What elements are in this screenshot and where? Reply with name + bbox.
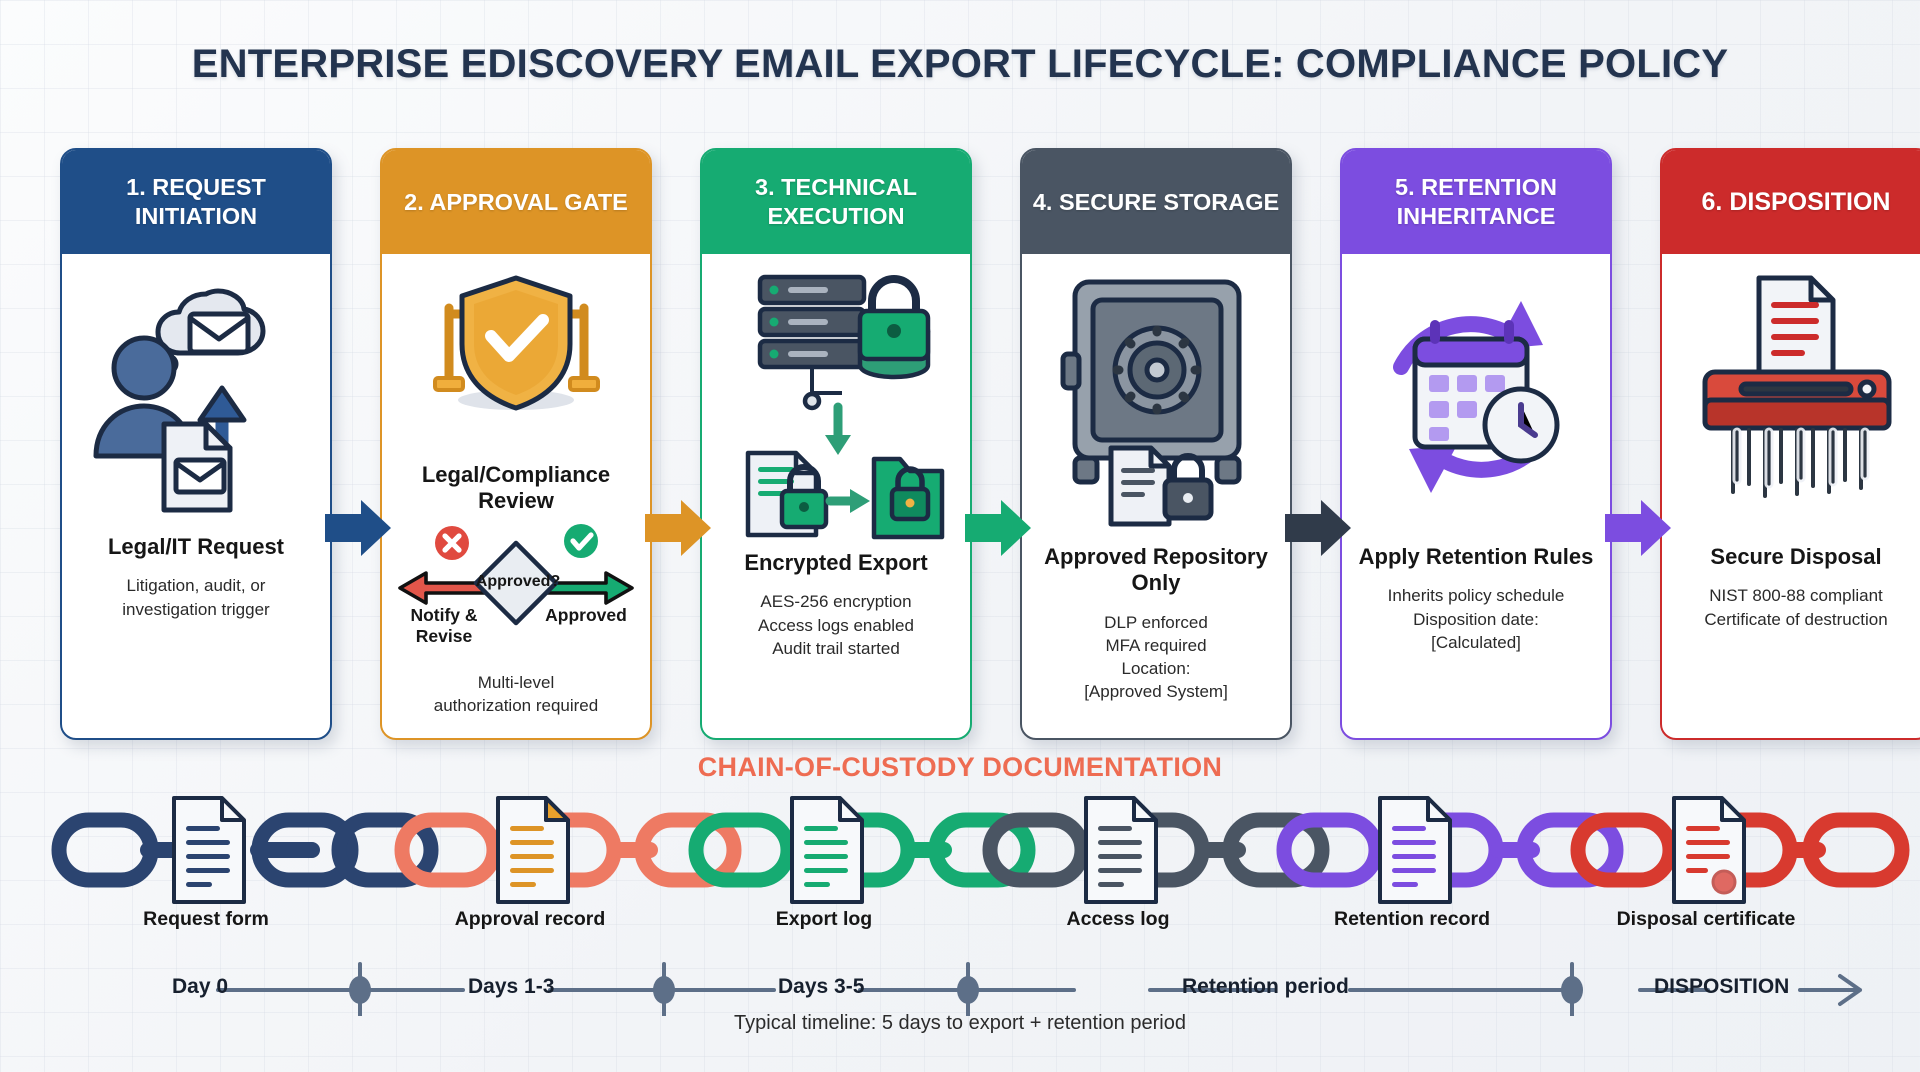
step-headline: Legal/IT Request [108, 534, 284, 560]
arrow-step2-to-step3 [645, 500, 711, 556]
step-headline: Legal/Compliance Review [394, 462, 638, 515]
arrow-step3-to-step4 [965, 500, 1031, 556]
step-detail: Multi-level authorization required [434, 671, 598, 717]
step-card-technical-execution[interactable]: 3. TECHNICAL EXECUTION [700, 148, 972, 740]
shield-check-gate-icon [394, 260, 638, 456]
chain-doc-label: Disposal certificate [1586, 908, 1826, 931]
arrow-step4-to-step5 [1285, 500, 1351, 556]
step-detail: Inherits policy schedule Disposition dat… [1388, 584, 1565, 653]
step-headline: Approved Repository Only [1034, 544, 1278, 597]
safe-vault-lock-icon [1034, 266, 1278, 538]
step-card-request-initiation[interactable]: 1. REQUEST INITIATION [60, 148, 332, 740]
step-card-header: 6. DISPOSITION [1662, 150, 1920, 254]
step-card-header: 2. APPROVAL GATE [382, 150, 650, 254]
step-headline: Apply Retention Rules [1359, 544, 1594, 570]
chain-doc-label: Request form [86, 908, 326, 931]
chain-of-custody-graphic [0, 790, 1920, 910]
timeline-marker: Days 3-5 [778, 975, 864, 999]
timeline-marker: Retention period [1182, 975, 1349, 999]
timeline-marker: Day 0 [172, 975, 228, 999]
reject-branch-label: Notify & Revise [386, 605, 502, 647]
step-headline: Encrypted Export [744, 550, 927, 576]
step-card-approval-gate[interactable]: 2. APPROVAL GATE Legal/Compliance Review [380, 148, 652, 740]
step-card-header: 3. TECHNICAL EXECUTION [702, 150, 970, 254]
arrow-right-icon [1800, 976, 1860, 1004]
timeline-marker: DISPOSITION [1654, 975, 1789, 999]
step-detail: NIST 800-88 compliant Certificate of des… [1704, 584, 1887, 630]
step-detail: DLP enforced MFA required Location: [App… [1084, 611, 1228, 703]
page-title: ENTERPRISE EDISCOVERY EMAIL EXPORT LIFEC… [0, 42, 1920, 87]
chain-doc-label: Retention record [1292, 908, 1532, 931]
server-lock-encrypted-folder-icon [714, 266, 958, 544]
step-detail: Litigation, audit, or investigation trig… [122, 574, 269, 620]
timeline-axis [0, 960, 1920, 1016]
chain-doc-label: Access log [998, 908, 1238, 931]
step-card-header: 4. SECURE STORAGE [1022, 150, 1290, 254]
arrow-step5-to-step6 [1605, 500, 1671, 556]
arrow-step1-to-step2 [325, 500, 391, 556]
step-card-secure-storage[interactable]: 4. SECURE STORAGE [1020, 148, 1292, 740]
step-detail: AES-256 encryption Access logs enabled A… [758, 590, 914, 659]
timeline-caption: Typical timeline: 5 days to export + ret… [0, 1012, 1920, 1035]
chain-doc-label: Export log [704, 908, 944, 931]
approval-decision-branch: Approved? Notify & Revise Approved [394, 517, 638, 667]
step-card-header: 1. REQUEST INITIATION [62, 150, 330, 254]
timeline-marker: Days 1-3 [468, 975, 554, 999]
step-card-retention-inheritance[interactable]: 5. RETENTION INHERITANCE [1340, 148, 1612, 740]
paper-shredder-icon [1674, 266, 1918, 538]
decision-label: Approved? [442, 573, 594, 591]
step-card-disposition[interactable]: 6. DISPOSITION [1660, 148, 1920, 740]
step-card-header: 5. RETENTION INHERITANCE [1342, 150, 1610, 254]
approve-branch-label: Approved [530, 605, 642, 626]
calendar-clock-cycle-icon [1354, 266, 1598, 538]
person-thinking-email-icon [74, 266, 318, 528]
chain-doc-label: Approval record [410, 908, 650, 931]
step-headline: Secure Disposal [1710, 544, 1881, 570]
lifecycle-steps-row: 1. REQUEST INITIATION [0, 148, 1920, 748]
chain-of-custody-title: CHAIN-OF-CUSTODY DOCUMENTATION [0, 752, 1920, 783]
